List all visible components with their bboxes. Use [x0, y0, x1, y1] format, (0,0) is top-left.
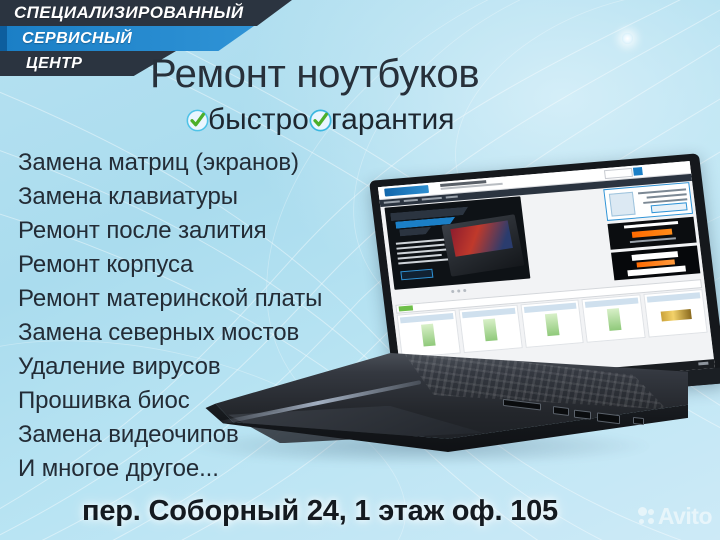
- background-glow-dot: [622, 33, 633, 44]
- feature-list: быстро гарантия: [186, 103, 455, 137]
- product-card: [520, 299, 584, 348]
- site-search-input: [604, 168, 633, 179]
- laptop-base: [188, 353, 688, 463]
- site-hero-banner: [384, 196, 530, 290]
- site-search-button: [633, 167, 643, 176]
- service-card: [603, 182, 693, 221]
- lock-slot-port: [633, 417, 643, 425]
- site-sidebar: [603, 182, 700, 280]
- product-card: [458, 305, 522, 354]
- address-line: пер. Соборный 24, 1 этаж оф. 105: [0, 494, 640, 528]
- xiaomi-service-banner: [608, 217, 697, 250]
- feature-label-warranty: гарантия: [331, 103, 455, 137]
- poster-canvas: СПЕЦИАЛИЗИРОВАННЫЙ СЕРВИСНЫЙ ЦЕНТР Ремон…: [0, 0, 720, 540]
- product-card: [644, 289, 708, 338]
- check-circle-icon: [309, 109, 332, 132]
- site-logo: [384, 185, 429, 197]
- feature-label-fast: быстро: [208, 103, 309, 137]
- vga-port: [597, 412, 620, 424]
- avito-wordmark: Avito: [658, 503, 712, 530]
- usb-port: [574, 409, 591, 420]
- xiaomi-goods-banner: [611, 245, 700, 280]
- laptop-photo: [178, 168, 703, 473]
- avito-watermark: Avito: [638, 503, 712, 530]
- badge-service: СЕРВИСНЫЙ: [0, 26, 254, 51]
- check-circle-icon: [186, 109, 209, 132]
- card-reader-port: [503, 399, 541, 410]
- carousel-dots: [451, 289, 466, 293]
- product-card: [582, 294, 646, 343]
- badge-specialized: СПЕЦИАЛИЗИРОВАННЫЙ: [0, 0, 292, 26]
- usb-port: [553, 406, 570, 417]
- avito-logo-icon: [638, 507, 655, 526]
- page-title: Ремонт ноутбуков: [150, 52, 570, 96]
